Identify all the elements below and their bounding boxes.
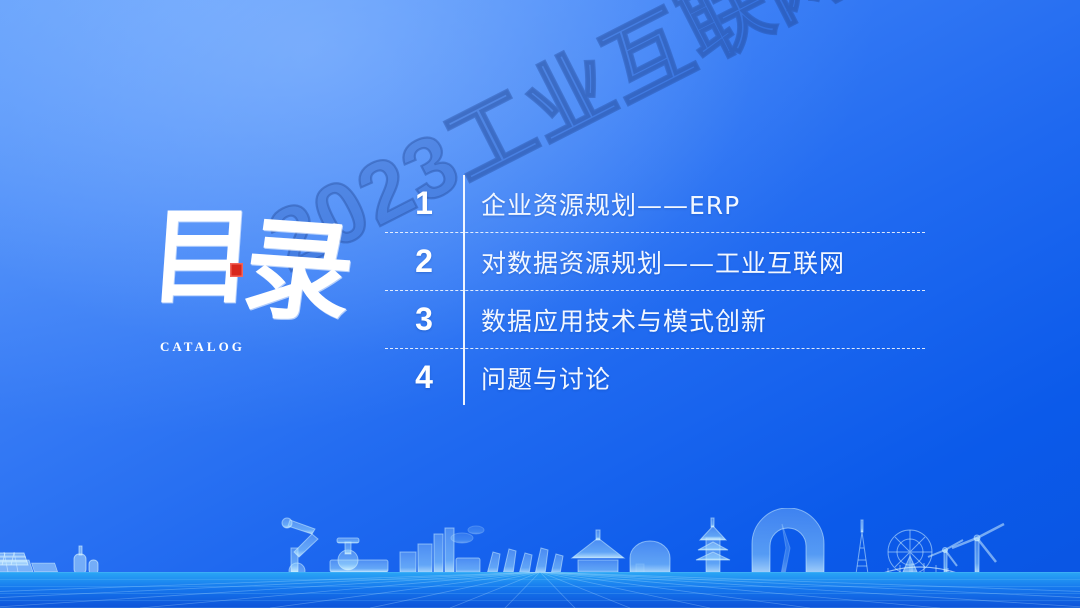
slide-canvas: 2023工业互联网大会 目录 CATALOG 1 企业资源规划——ERP 2 对… bbox=[0, 0, 1080, 608]
industrial-park-icons bbox=[0, 538, 1080, 578]
catalog-title-block: 目录 CATALOG bbox=[148, 205, 348, 375]
horizon-glow-line bbox=[0, 574, 1080, 576]
agenda-item-2[interactable]: 2 对数据资源规划——工业互联网 bbox=[385, 233, 925, 291]
agenda-item-1[interactable]: 1 企业资源规划——ERP bbox=[385, 175, 925, 233]
robot-arm-icon bbox=[282, 518, 318, 578]
catalog-calligraphy: 目录 bbox=[143, 205, 353, 355]
floor-radial-lines bbox=[0, 572, 1080, 608]
agenda-item-number: 4 bbox=[385, 359, 463, 396]
pagoda-icon bbox=[696, 518, 730, 574]
solar-panel-icon bbox=[0, 553, 58, 572]
wind-turbine-icon bbox=[928, 524, 1004, 574]
red-seal-stamp-icon bbox=[230, 263, 243, 277]
catalog-char-lu: 录 bbox=[237, 213, 354, 329]
factory-icon bbox=[400, 526, 484, 574]
skyline-scene bbox=[0, 508, 1080, 608]
agenda-item-3[interactable]: 3 数据应用技术与模式创新 bbox=[385, 291, 925, 349]
perspective-floor-grid bbox=[0, 572, 1080, 608]
storage-tank-icon bbox=[74, 546, 98, 574]
agenda-item-4[interactable]: 4 问题与讨论 bbox=[385, 349, 925, 406]
skyline-right-cluster bbox=[0, 544, 1080, 578]
skyline-silhouette bbox=[0, 508, 1080, 578]
solar-panel-icon bbox=[0, 552, 33, 572]
agenda-item-label: 问题与讨论 bbox=[463, 360, 611, 396]
agenda-item-label: 企业资源规划——ERP bbox=[463, 186, 740, 222]
pipe-valve-icon bbox=[330, 538, 388, 572]
agenda-list: 1 企业资源规划——ERP 2 对数据资源规划——工业互联网 3 数据应用技术与… bbox=[385, 175, 925, 406]
agenda-item-label: 对数据资源规划——工业互联网 bbox=[463, 244, 845, 280]
agenda-item-number: 3 bbox=[385, 301, 463, 338]
ferris-wheel-icon bbox=[888, 530, 932, 574]
tv-tower-icon bbox=[856, 520, 868, 574]
gate-of-the-orient-icon bbox=[752, 508, 824, 574]
oil-pump-icon bbox=[487, 548, 563, 574]
catalog-subtitle: CATALOG bbox=[160, 339, 245, 355]
hall-icon bbox=[630, 541, 670, 574]
agenda-item-number: 1 bbox=[385, 185, 463, 222]
bridge-icon bbox=[880, 563, 960, 574]
temple-gate-icon bbox=[572, 530, 624, 574]
agenda-item-number: 2 bbox=[385, 243, 463, 280]
catalog-char-mu: 目 bbox=[145, 195, 252, 318]
agenda-item-label: 数据应用技术与模式创新 bbox=[463, 302, 767, 338]
